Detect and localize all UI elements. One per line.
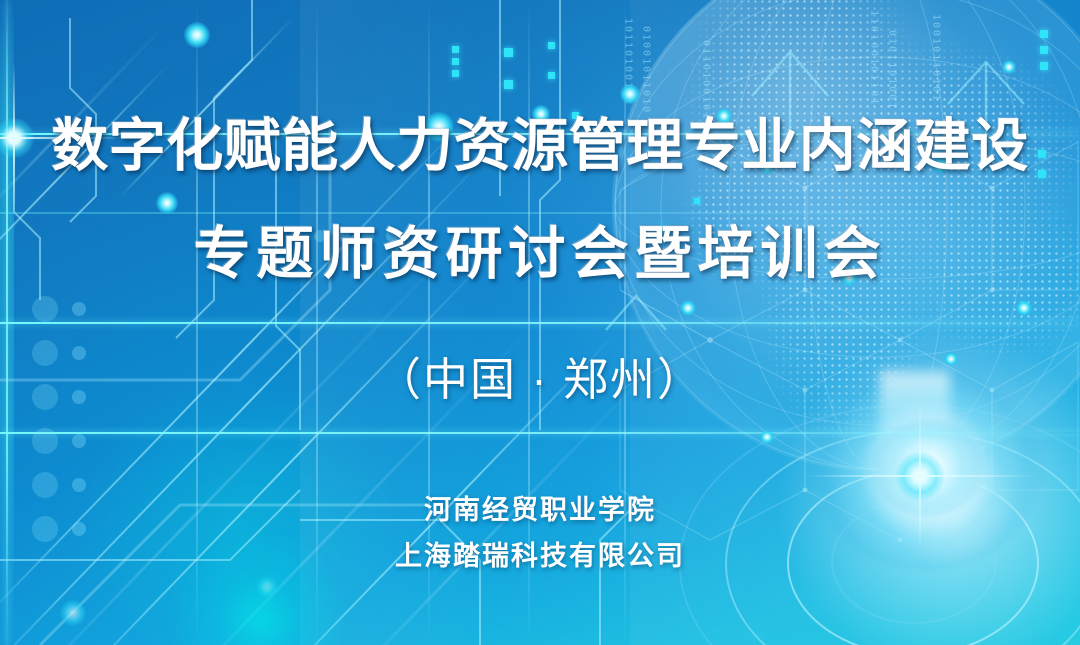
banner-text-block: 数字化赋能人力资源管理专业内涵建设 专题师资研讨会暨培训会 （中国 · 郑州） … [0,0,1080,645]
conference-banner: 10110100101 01001011010 110100101101 010… [0,0,1080,645]
organizer-line: 河南经贸职业学院 [0,488,1080,534]
title-line-1: 数字化赋能人力资源管理专业内涵建设 [0,118,1080,175]
organizer-list: 河南经贸职业学院 上海踏瑞科技有限公司 [0,488,1080,580]
organizer-line: 上海踏瑞科技有限公司 [0,534,1080,580]
location-subtitle: （中国 · 郑州） [0,343,1080,408]
title-line-2: 专题师资研讨会暨培训会 [0,226,1080,283]
